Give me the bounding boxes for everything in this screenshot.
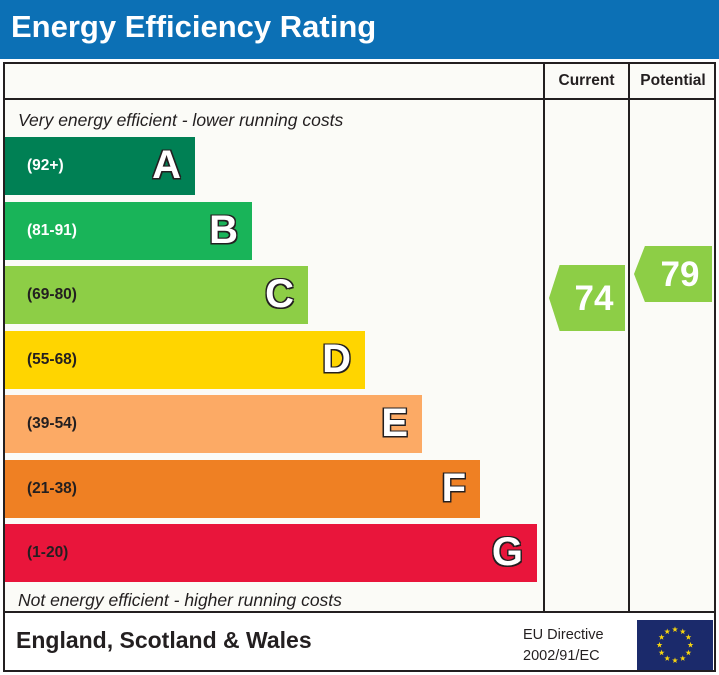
band-letter-d: D [322, 339, 351, 379]
band-letter-b: B [209, 210, 238, 250]
footer-directive: EU Directive 2002/91/EC [523, 625, 604, 667]
caption-bottom: Not energy efficient - higher running co… [18, 590, 342, 611]
footer-directive-line1: EU Directive [523, 625, 604, 646]
energy-efficiency-rating-chart: Energy Efficiency Rating Current Potenti… [0, 0, 719, 675]
band-range-d: (55-68) [27, 351, 77, 369]
column-divider-potential [628, 62, 630, 613]
column-divider-current [543, 62, 545, 613]
potential-rating-arrow: 79 [634, 246, 712, 302]
caption-top: Very energy efficient - lower running co… [18, 110, 343, 131]
band-bar-b: (81-91) B [5, 202, 252, 260]
band-bar-f: (21-38) F [5, 460, 480, 518]
band-bar-e: (39-54) E [5, 395, 422, 453]
eu-flag-icon [637, 620, 713, 670]
band-bar-c: (69-80) C [5, 266, 308, 324]
band-range-e: (39-54) [27, 415, 77, 433]
column-header-current: Current [545, 72, 628, 90]
footer-directive-line2: 2002/91/EC [523, 646, 604, 667]
band-bar-a: (92+) A [5, 137, 195, 195]
band-letter-f: F [442, 468, 466, 508]
page-title: Energy Efficiency Rating [11, 9, 376, 45]
column-header-potential: Potential [630, 72, 716, 90]
band-range-c: (69-80) [27, 286, 77, 304]
band-range-f: (21-38) [27, 480, 77, 498]
band-letter-c: C [265, 274, 294, 314]
footer-region-label: England, Scotland & Wales [16, 627, 312, 654]
current-rating-arrow: 74 [549, 265, 625, 331]
band-range-g: (1-20) [27, 544, 68, 562]
band-letter-e: E [381, 403, 408, 443]
potential-rating-value: 79 [647, 257, 700, 292]
chart-header: Energy Efficiency Rating [0, 0, 719, 59]
band-range-a: (92+) [27, 157, 64, 175]
band-range-b: (81-91) [27, 222, 77, 240]
current-rating-value: 74 [561, 281, 614, 316]
band-bar-g: (1-20) G [5, 524, 537, 582]
band-letter-a: A [152, 145, 181, 185]
band-bar-d: (55-68) D [5, 331, 365, 389]
band-letter-g: G [492, 532, 523, 572]
